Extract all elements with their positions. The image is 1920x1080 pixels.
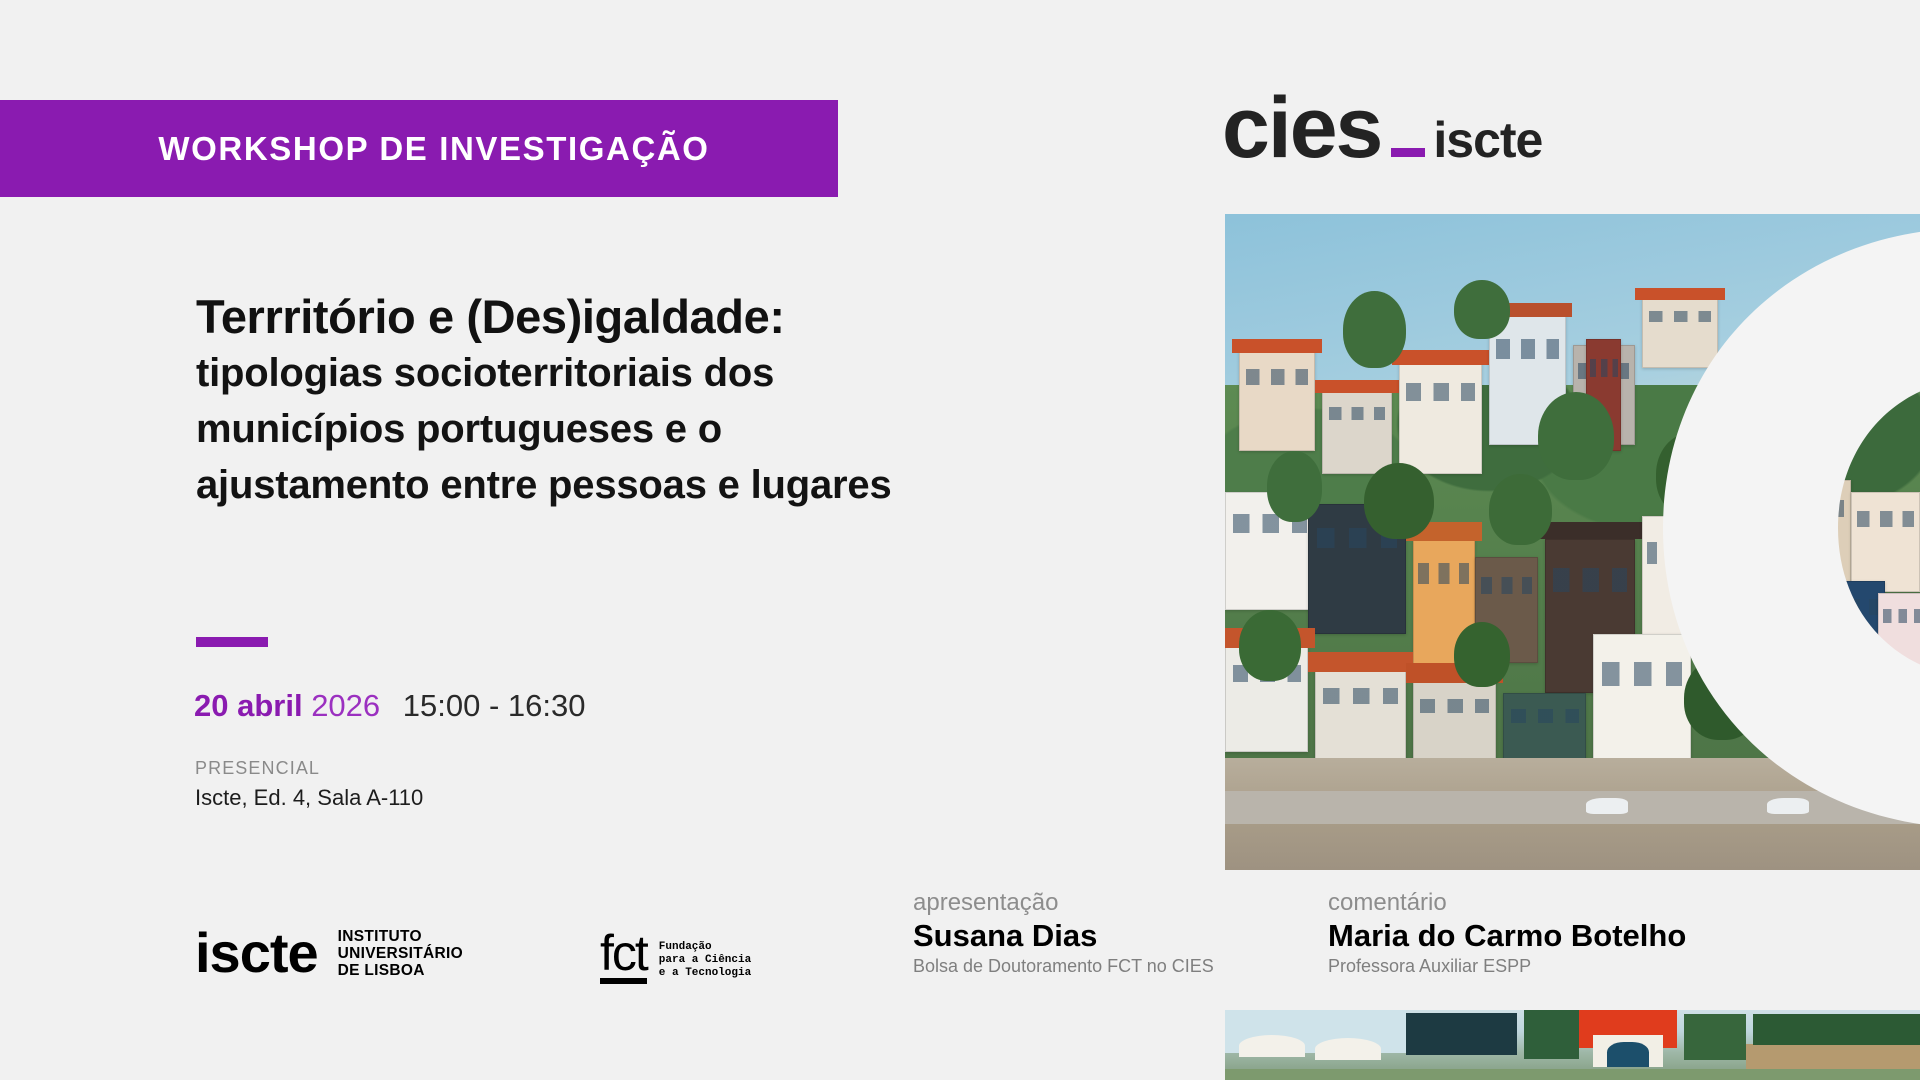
credit-presenter-affiliation: Bolsa de Doutoramento FCT no CIES bbox=[913, 955, 1214, 977]
cies-underscore-icon bbox=[1391, 148, 1425, 157]
fct-subtitle: Fundação para a Ciência e a Tecnologia bbox=[659, 941, 751, 980]
title-line-2: tipologias socioterritoriais dos bbox=[196, 345, 1096, 401]
credit-commenter: comentário Maria do Carmo Botelho Profes… bbox=[1328, 888, 1686, 977]
event-year: 2026 bbox=[311, 688, 380, 723]
fct-sub-line-1: Fundação bbox=[659, 941, 751, 954]
event-venue: Iscte, Ed. 4, Sala A-110 bbox=[195, 785, 423, 811]
cies-iscte-wordmark: iscte bbox=[1433, 115, 1542, 165]
event-datetime: 20 abril 2026 15:00 - 16:30 bbox=[194, 688, 585, 724]
event-time: 15:00 - 16:30 bbox=[389, 688, 586, 723]
photo-car bbox=[1586, 798, 1628, 814]
event-mode: PRESENCIAL bbox=[195, 758, 320, 779]
credit-commenter-name: Maria do Carmo Botelho bbox=[1328, 917, 1686, 955]
credit-presenter-role: apresentação bbox=[913, 888, 1214, 917]
iscte-sub-line-1: INSTITUTO bbox=[338, 928, 463, 945]
strip-scene bbox=[1225, 1010, 1920, 1080]
credit-commenter-affiliation: Professora Auxiliar ESPP bbox=[1328, 955, 1686, 977]
fct-logo: fct Fundação para a Ciência e a Tecnolog… bbox=[600, 930, 751, 984]
event-day: 20 abril bbox=[194, 688, 303, 723]
strip-photo bbox=[1225, 1010, 1920, 1080]
iscte-sub-line-3: DE LISBOA bbox=[338, 962, 463, 979]
fct-sub-line-3: e a Tecnologia bbox=[659, 967, 751, 980]
photo-street bbox=[1225, 791, 1920, 824]
workshop-banner-label: WORKSHOP DE INVESTIGAÇÃO bbox=[128, 130, 709, 168]
credit-presenter-name: Susana Dias bbox=[913, 917, 1214, 955]
credit-commenter-role: comentário bbox=[1328, 888, 1686, 917]
main-photo bbox=[1225, 214, 1920, 870]
iscte-sub-line-2: UNIVERSITÁRIO bbox=[338, 945, 463, 962]
title-line-3: municípios portugueses e o bbox=[196, 401, 1096, 457]
cies-wordmark: cies bbox=[1222, 85, 1381, 171]
iscte-wordmark: iscte bbox=[195, 925, 318, 981]
iscte-subtitle: INSTITUTO UNIVERSITÁRIO DE LISBOA bbox=[338, 928, 463, 979]
title-line-4: ajustamento entre pessoas e lugares bbox=[196, 457, 1096, 513]
fct-sub-line-2: para a Ciência bbox=[659, 954, 751, 967]
cies-iscte-logo: cies iscte bbox=[1222, 85, 1542, 171]
page-title: Terrritório e (Des)igaldade: tipologias … bbox=[196, 288, 1096, 513]
credit-presenter: apresentação Susana Dias Bolsa de Doutor… bbox=[913, 888, 1214, 977]
poster-canvas: WORKSHOP DE INVESTIGAÇÃO Terrritório e (… bbox=[0, 0, 1920, 1080]
iscte-logo: iscte INSTITUTO UNIVERSITÁRIO DE LISBOA bbox=[195, 925, 463, 981]
divider-rule bbox=[196, 637, 268, 647]
fct-wordmark: fct bbox=[600, 930, 647, 984]
photo-car bbox=[1767, 798, 1809, 814]
workshop-banner: WORKSHOP DE INVESTIGAÇÃO bbox=[0, 100, 838, 197]
title-line-1: Terrritório e (Des)igaldade: bbox=[196, 288, 1096, 345]
